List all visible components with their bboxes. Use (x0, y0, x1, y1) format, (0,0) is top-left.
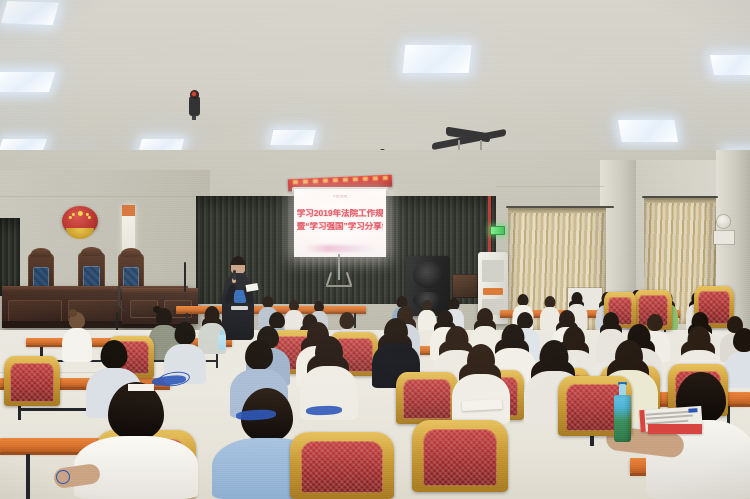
wall-trim (496, 186, 604, 187)
handout-papers (128, 384, 154, 391)
banquet-chair (4, 356, 60, 406)
wristband (56, 470, 70, 484)
screen-title-line1: 学习2019年法院工作规划 (297, 209, 384, 218)
banquet-chair (412, 420, 508, 492)
microphone-stand (178, 262, 192, 302)
surveillance-camera-icon (186, 88, 202, 120)
audience-member-foreground (646, 372, 750, 499)
screen-title-line2: 暨“学习强国”学习分享会 (297, 222, 384, 231)
ceiling-light (710, 55, 750, 75)
audience-member-foreground (74, 382, 198, 499)
open-notebook (648, 424, 702, 434)
acoustic-wall-panel (0, 218, 20, 296)
wall-clock (717, 215, 730, 228)
photo-scene: 人民法院 学习2019年法院工作规划 暨“学习强国”学习分享会 (0, 0, 750, 499)
water-bottle (218, 330, 226, 350)
wall-trim (0, 196, 196, 197)
ceiling-light (270, 130, 315, 145)
screen-header-text: 人民法院 (300, 195, 381, 199)
emergency-exit-sign (490, 226, 505, 235)
ceiling-light (403, 45, 472, 73)
water-bottle (614, 384, 631, 442)
projection-screen: 人民法院 学习2019年法院工作规划 暨“学习强国”学习分享会 (294, 189, 386, 257)
handout-papers (462, 399, 502, 411)
screen-tripod (320, 254, 364, 290)
projection-screen-assembly: 人民法院 学习2019年法院工作规划 暨“学习强国”学习分享会 (292, 183, 388, 257)
banquet-chair (290, 432, 394, 499)
national-emblem (62, 206, 98, 236)
ceiling-light (0, 72, 55, 92)
ceiling-light (1, 1, 59, 25)
banquet-chair (396, 372, 458, 424)
wall-display-panel (452, 274, 478, 298)
wall-notice-plate (714, 231, 734, 244)
ceiling-light (618, 120, 678, 142)
audience-member (452, 344, 510, 424)
